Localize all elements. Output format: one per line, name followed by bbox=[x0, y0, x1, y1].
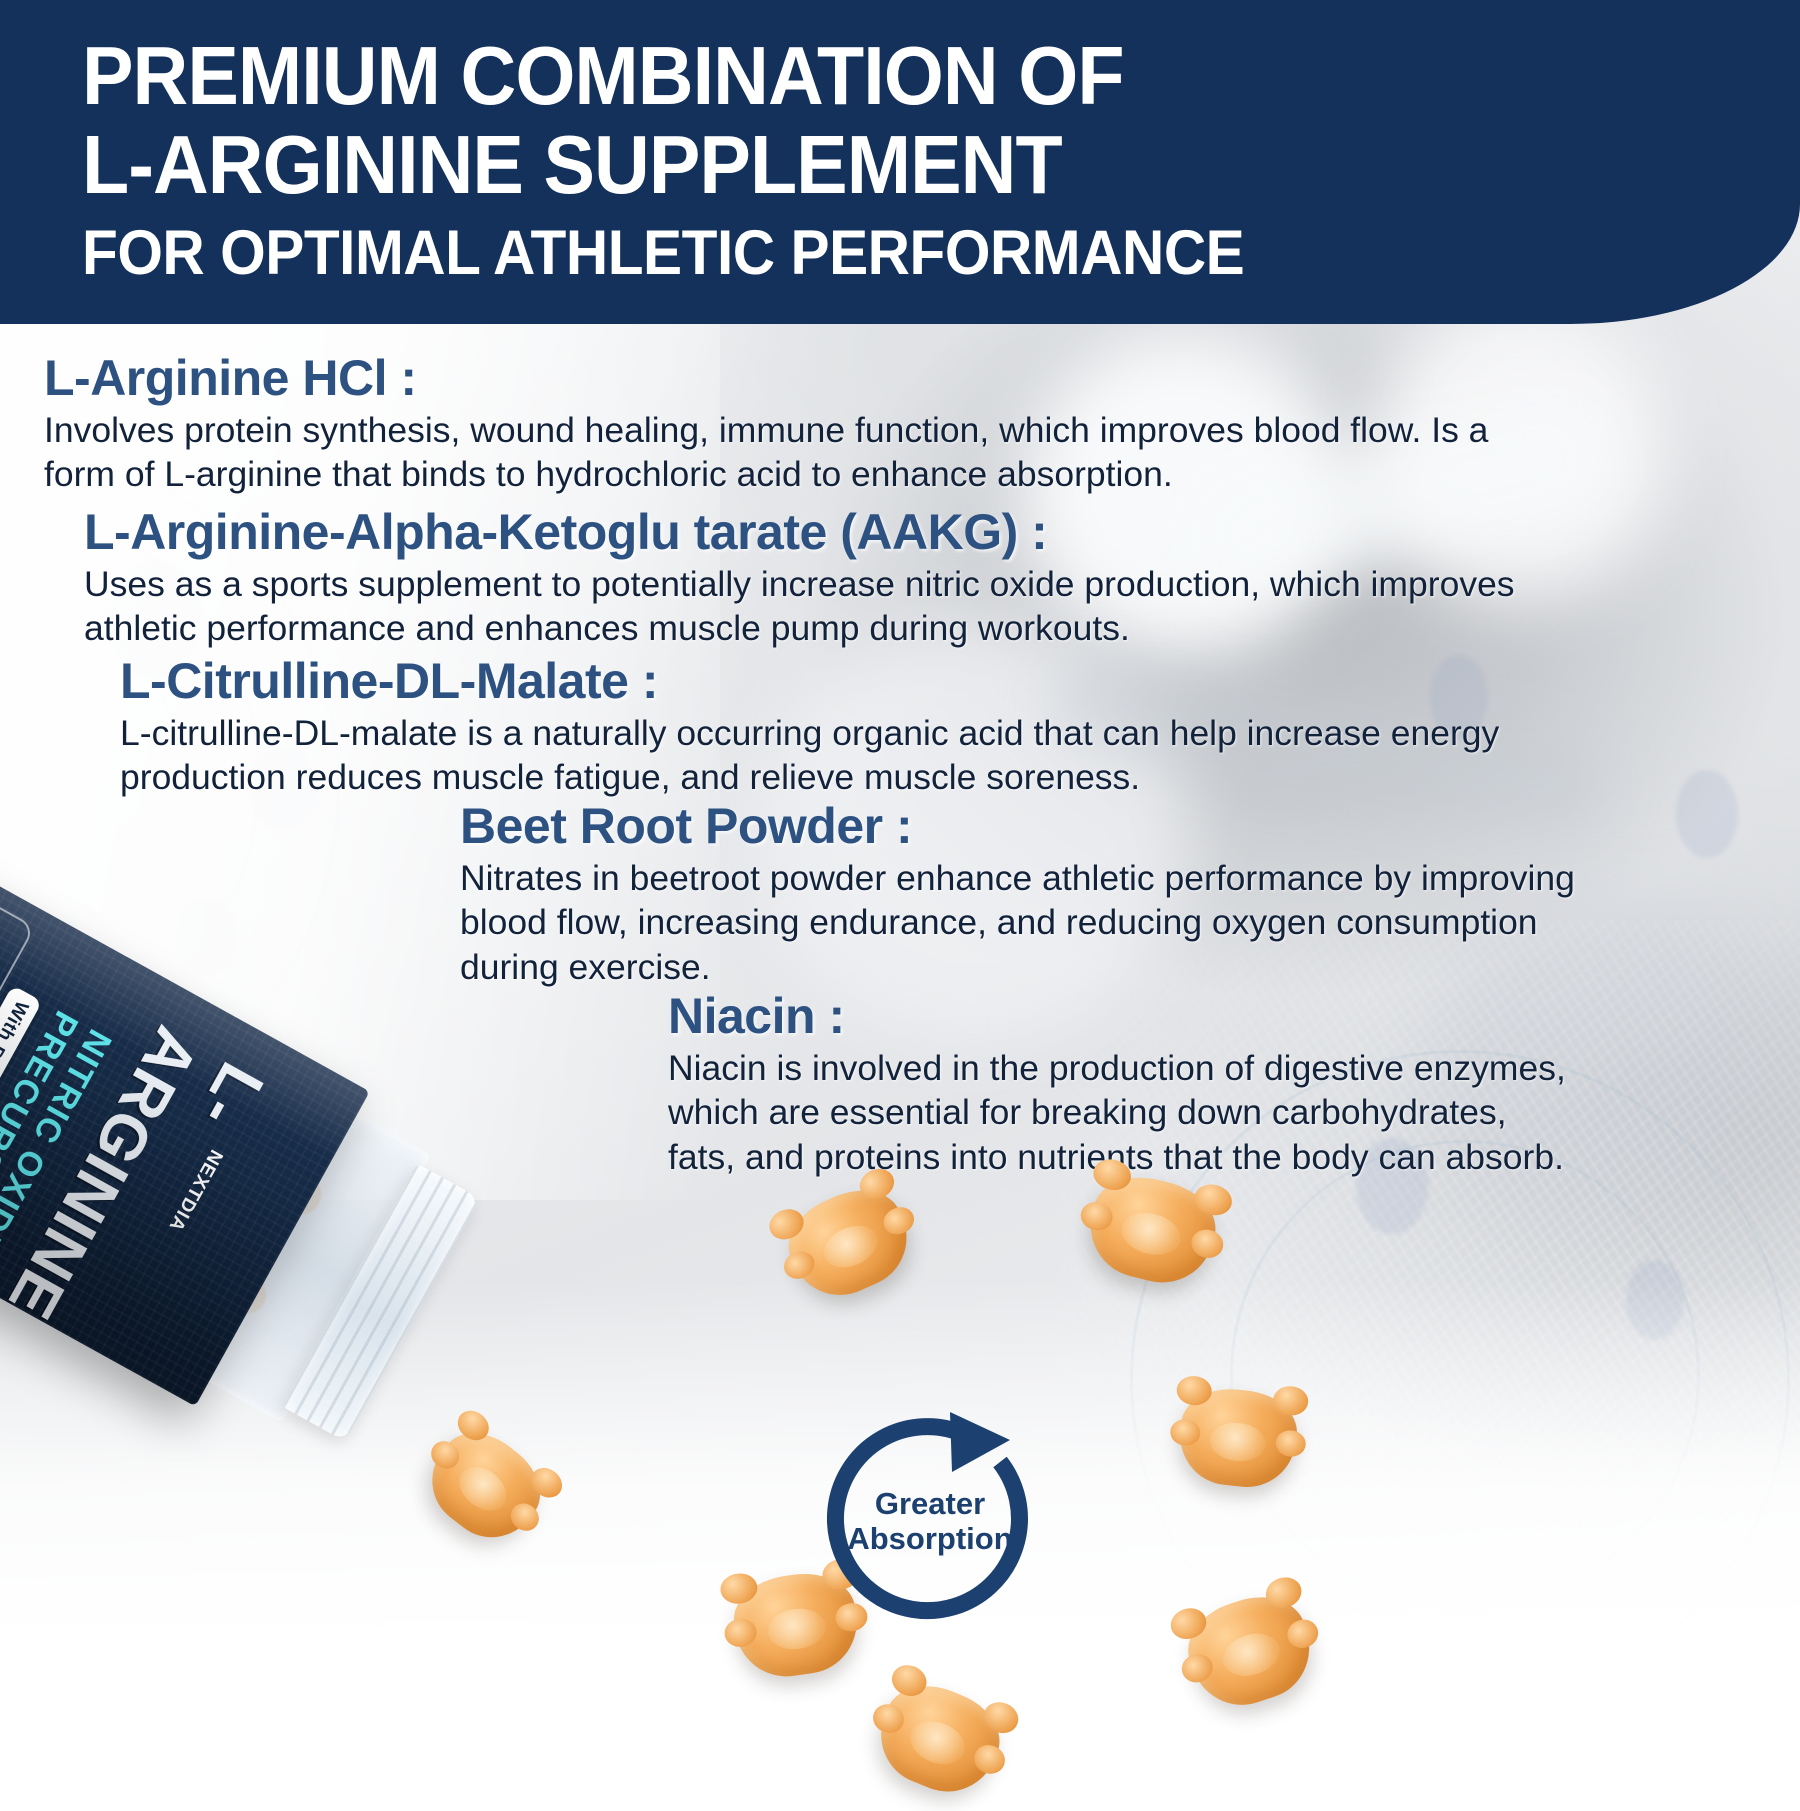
brand-logo: NEXTDIA bbox=[163, 1145, 226, 1235]
section-body: L-citrulline-DL-malate is a naturally oc… bbox=[120, 711, 1499, 800]
gummy-bear bbox=[1175, 1384, 1300, 1492]
label-benefits-box: 💪 STRENGTH 🏋 ENDURANCE 💦 BLOOD FLOW bbox=[0, 882, 36, 1212]
section-body: Uses as a sports supplement to potential… bbox=[84, 562, 1515, 651]
section-aakg: L-Arginine-Alpha-Ketoglu tarate (AAKG) :… bbox=[84, 506, 1515, 651]
section-heading: L-Citrulline-DL-Malate : bbox=[120, 655, 1499, 708]
section-heading: Niacin : bbox=[668, 990, 1566, 1043]
brand-name: NEXTDIA bbox=[164, 1146, 226, 1235]
label-beet-root-tag: With Beet Root Powder bbox=[0, 985, 42, 1212]
section-heading: L-Arginine HCl : bbox=[44, 352, 1488, 405]
section-l-arginine-hcl: L-Arginine HCl : Involves protein synthe… bbox=[44, 352, 1488, 497]
bottle-geometry: 60 VEGAN GUMMIES Lemon Flavor DIETARY SU… bbox=[0, 820, 492, 1474]
greater-absorption-badge: Greater Absorption bbox=[800, 1400, 1060, 1660]
benefit-strength: 💪 STRENGTH bbox=[0, 897, 26, 1059]
section-l-citrulline-dl-malate: L-Citrulline-DL-Malate : L-citrulline-DL… bbox=[120, 655, 1499, 800]
section-heading: L-Arginine-Alpha-Ketoglu tarate (AAKG) : bbox=[84, 506, 1515, 559]
section-niacin: Niacin : Niacin is involved in the produ… bbox=[668, 990, 1566, 1180]
flexed-bicep-icon: 💪 bbox=[0, 897, 26, 962]
product-bottle: 60 VEGAN GUMMIES Lemon Flavor DIETARY SU… bbox=[0, 820, 700, 1560]
label-product-name: L-ARGININE bbox=[0, 1015, 279, 1367]
label-nitric-oxide-precursor: NITRIC OXIDE PRECURSOR bbox=[0, 1005, 119, 1289]
section-body: Involves protein synthesis, wound healin… bbox=[44, 408, 1488, 497]
badge-text: Greater Absorption bbox=[800, 1486, 1060, 1557]
